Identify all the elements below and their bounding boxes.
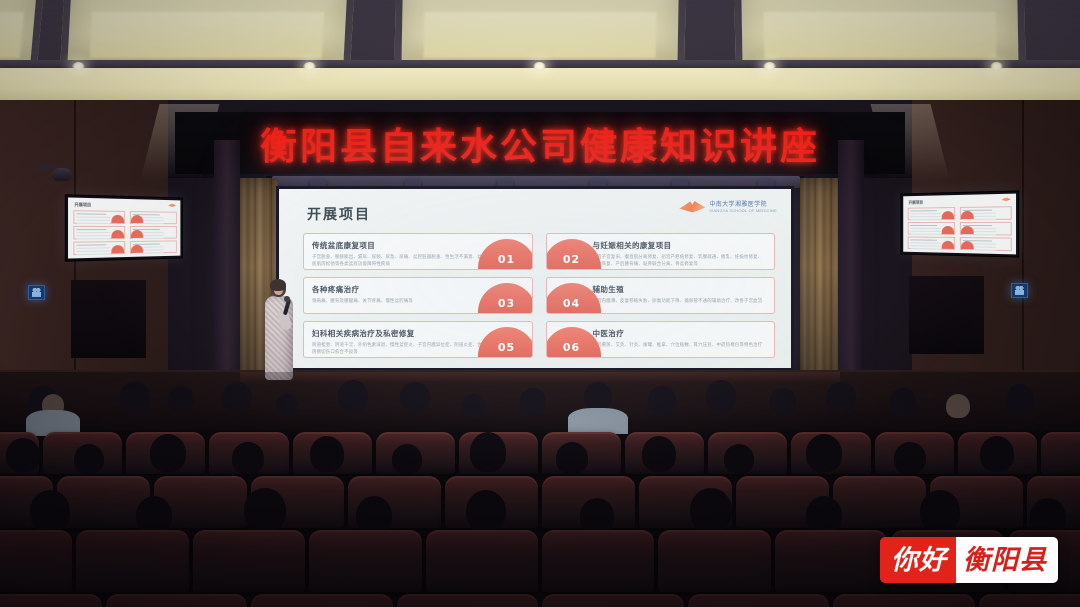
card-title: 中医治疗	[593, 328, 767, 339]
slide-card-02: 与妊娠相关的康复项目 产后子宫复旧、腹直肌分离修复、剖宫产疤痕修复、乳腺疏通、催…	[546, 233, 776, 270]
audience-shoulder	[568, 408, 628, 434]
monitor-card-grid	[908, 206, 1012, 251]
channel-watermark-logo: 你好 衡阳县	[880, 537, 1058, 583]
slide-card-06: 中医治疗 中药熏蒸、艾灸、针灸、拔罐、推拿、穴位贴敷、耳穴压豆、中药热奄包等特色…	[546, 321, 776, 358]
downlight-icon-2	[303, 62, 316, 71]
wall-seam-right-2	[1022, 100, 1024, 400]
audience-head	[894, 442, 926, 474]
card-body: 子宫脱垂、膀胱膨出、漏尿、尿频、尿急、尿痛、盆腔脏器脱垂、性生活不满意、盆底肌肉…	[312, 254, 486, 269]
audience-head	[806, 434, 842, 472]
monitor-card	[130, 226, 177, 239]
presenter	[262, 280, 296, 380]
audience-head	[222, 382, 252, 412]
ceiling-light-band	[0, 68, 1080, 102]
monitor-card	[130, 240, 177, 254]
monitor-slide-left: 开展项目	[68, 197, 180, 258]
doorway-right	[909, 276, 984, 354]
slide-card-03: 各种疼痛治疗 颈肩痛、腰背及腰腿痛、关节疼痛、慢性盆腔痛等 03	[303, 277, 533, 314]
seat	[775, 530, 887, 592]
audience-head	[580, 498, 614, 534]
slide-title: 开展项目	[307, 204, 371, 224]
seat	[76, 530, 188, 592]
watermark-text-hengyangxian: 衡阳县	[963, 547, 1047, 574]
seat	[426, 530, 538, 592]
seat	[1041, 432, 1080, 474]
watermark-left-block: 你好	[880, 537, 956, 583]
monitor-card	[73, 226, 125, 240]
audience-head	[150, 434, 186, 472]
audience-head	[6, 438, 40, 472]
audience-head	[74, 444, 104, 474]
audience-head	[392, 444, 422, 474]
card-body: 中药熏蒸、艾灸、针灸、拔罐、推拿、穴位贴敷、耳穴压豆、中药热奄包等特色治疗	[593, 342, 767, 349]
seat	[106, 594, 248, 607]
audience-head	[30, 490, 70, 532]
watermark-right-block: 衡阳县	[956, 537, 1058, 583]
seat	[397, 594, 539, 607]
seat	[688, 594, 830, 607]
card-title: 各种疼痛治疗	[312, 284, 486, 295]
monitor-card	[908, 222, 955, 235]
downlight-icon-3	[533, 62, 546, 71]
card-title: 辅助生殖	[593, 284, 767, 295]
presenter-dress	[265, 296, 293, 380]
seat	[0, 530, 72, 592]
audience-head	[826, 382, 856, 412]
book-logo-icon	[1001, 197, 1010, 201]
audience-head	[1006, 384, 1034, 414]
slide-logo-subtext: XIANGYA SCHOOL OF MEDICINE	[709, 208, 777, 213]
security-camera-icon	[36, 163, 70, 181]
seat	[193, 530, 305, 592]
card-body: 颈肩痛、腰背及腰腿痛、关节疼痛、慢性盆腔痛等	[312, 298, 486, 305]
slide-logo: 中南大学湘雅医学院 XIANGYA SCHOOL OF MEDICINE	[679, 199, 777, 213]
seat-row-4	[0, 594, 1080, 607]
monitor-card	[73, 210, 125, 224]
slide-card-grid: 传统盆底康复项目 子宫脱垂、膀胱膨出、漏尿、尿频、尿急、尿痛、盆腔脏器脱垂、性生…	[303, 233, 775, 358]
downlight-icon-1	[72, 62, 85, 71]
watermark-text-ni-hao: 你好	[891, 547, 947, 574]
audience-head	[356, 496, 392, 534]
monitor-card	[960, 222, 1012, 236]
curtain-shadow-left	[214, 140, 240, 402]
monitor-card-grid	[73, 210, 176, 255]
seat	[542, 530, 654, 592]
audience-head	[168, 386, 194, 412]
seat	[542, 594, 684, 607]
audience-head	[642, 436, 676, 472]
stage-curtain-right	[800, 178, 842, 400]
exit-sign-left	[28, 285, 45, 300]
seat	[0, 594, 102, 607]
seat	[833, 476, 926, 528]
seat	[979, 594, 1080, 607]
side-monitor-right: 开展项目	[901, 190, 1020, 257]
curtain-shadow-right	[838, 140, 864, 402]
auditorium-scene: 衡阳县自来水公司健康知识讲座 开展项目 中南大学湘雅医学院 XIANGYA SC…	[0, 0, 1080, 607]
audience-head	[136, 496, 172, 534]
monitor-card	[960, 206, 1012, 220]
seat	[309, 530, 421, 592]
card-number-badge: 03	[478, 283, 533, 313]
card-body: 子宫内膜薄、反复移植失败、卵巢功能下降、输卵管不通的辅助治疗、改善子宫血流等	[593, 298, 767, 313]
presenter-hair	[270, 279, 286, 291]
seat	[251, 594, 393, 607]
monitor-slide-title: 开展项目	[74, 202, 91, 209]
audience-head	[520, 388, 546, 414]
audience-head	[232, 442, 264, 474]
slide-logo-text: 中南大学湘雅医学院	[709, 199, 777, 208]
slide-card-04: 辅助生殖 子宫内膜薄、反复移植失败、卵巢功能下降、输卵管不通的辅助治疗、改善子宫…	[546, 277, 776, 314]
audience-head	[276, 394, 298, 416]
side-monitor-left: 开展项目	[65, 194, 183, 262]
audience-head	[920, 490, 960, 532]
accessibility-pictogram-icon	[1015, 286, 1024, 295]
audience-head	[724, 444, 754, 474]
card-title: 传统盆底康复项目	[312, 240, 486, 251]
audience-head	[556, 442, 588, 474]
audience-head	[980, 436, 1014, 472]
audience-head	[310, 436, 344, 472]
microphone-head-icon	[284, 296, 290, 302]
monitor-slide-right: 开展项目	[903, 194, 1016, 255]
card-number-badge: 05	[478, 327, 533, 357]
audience-head	[470, 432, 506, 472]
monitor-card	[908, 236, 955, 249]
slide-card-01: 传统盆底康复项目 子宫脱垂、膀胱膨出、漏尿、尿频、尿急、尿痛、盆腔脏器脱垂、性生…	[303, 233, 533, 270]
doorway-left	[71, 280, 146, 358]
downlight-icon-5	[990, 62, 1003, 71]
audience-head	[400, 382, 430, 412]
banner-title: 衡阳县自来水公司健康知识讲座	[260, 116, 820, 170]
monitor-logo-text	[1010, 202, 1011, 205]
curtain-shading-right	[800, 178, 842, 400]
monitor-slide-title: 开展项目	[909, 200, 923, 206]
monitor-card	[130, 211, 177, 224]
accessibility-pictogram-icon	[32, 288, 41, 297]
led-banner: 衡阳县自来水公司健康知识讲座	[175, 112, 905, 174]
card-number-badge: 01	[478, 239, 533, 269]
seat	[833, 594, 975, 607]
card-title: 妇科相关疾病治疗及私密修复	[312, 328, 486, 339]
ceiling	[0, 0, 1080, 112]
downlight-icon-4	[763, 62, 776, 71]
book-logo-icon	[679, 200, 705, 213]
audience-head	[770, 388, 796, 414]
card-title: 与妊娠相关的康复项目	[593, 240, 767, 251]
audience-head	[946, 394, 970, 418]
card-body: 产后子宫复旧、腹直肌分离修复、剖宫产疤痕修复、乳腺疏通、催乳、妊娠纹修复、形体恢…	[593, 254, 767, 269]
monitor-logo-text	[175, 208, 176, 211]
presentation-slide: 开展项目 中南大学湘雅医学院 XIANGYA SCHOOL OF MEDICIN…	[279, 189, 791, 368]
audience-head	[806, 496, 842, 534]
audience-head	[706, 380, 736, 412]
monitor-card	[73, 241, 125, 255]
audience-head	[466, 490, 506, 532]
audience-head	[462, 394, 486, 418]
monitor-card	[908, 207, 955, 220]
audience-head	[648, 386, 676, 414]
audience-head	[890, 388, 916, 416]
monitor-card	[960, 237, 1012, 251]
audience-head	[338, 380, 368, 412]
exit-sign-right	[1011, 283, 1028, 298]
seat	[658, 530, 770, 592]
audience-head	[120, 382, 150, 412]
audience-head	[244, 488, 286, 532]
slide-card-05: 妇科相关疾病治疗及私密修复 阴道松弛、阴道干涩、外阴色素减退、慢性盆腔炎、子宫内…	[303, 321, 533, 358]
card-body: 阴道松弛、阴道干涩、外阴色素减退、慢性盆腔炎、子宫内膜异位症、阴道炎症、会阴侧切…	[312, 342, 486, 357]
book-logo-icon	[168, 203, 176, 207]
audience-head	[690, 488, 732, 532]
projection-screen: 开展项目 中南大学湘雅医学院 XIANGYA SCHOOL OF MEDICIN…	[276, 186, 794, 371]
